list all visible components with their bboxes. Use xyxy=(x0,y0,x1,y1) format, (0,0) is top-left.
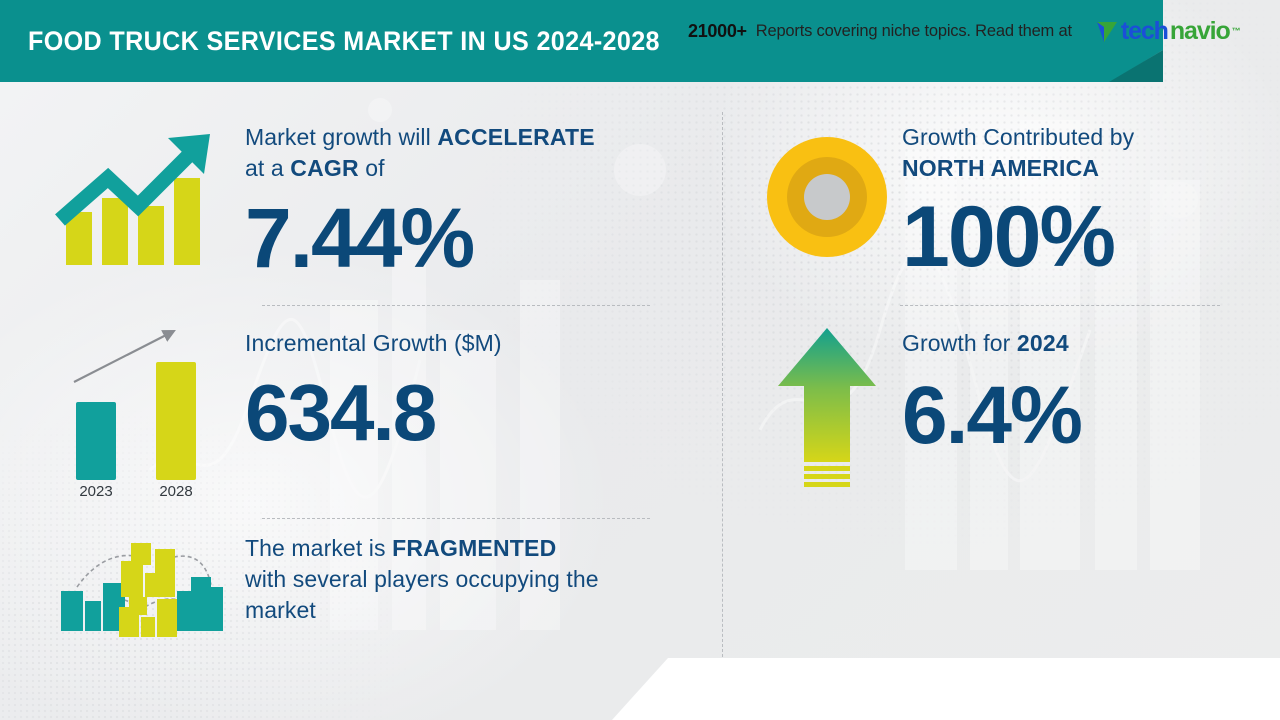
fragmentation-prefix: The market is xyxy=(245,535,392,561)
logo-text-navio: navio xyxy=(1170,17,1230,46)
growth-bar-chart-arrow-icon xyxy=(30,100,245,295)
cagr-lead2-bold: CAGR xyxy=(290,155,359,181)
region-label-line1: Growth Contributed by xyxy=(902,122,1252,153)
footer-content: 21000+ Reports covering niche topics. Re… xyxy=(688,0,1241,62)
cagr-value: 7.44% xyxy=(245,196,690,280)
left-column: Market growth will ACCELERATE at a CAGR … xyxy=(30,100,690,659)
page-title: FOOD TRUCK SERVICES MARKET IN US 2024-20… xyxy=(28,26,660,57)
footer-bar xyxy=(612,658,1280,720)
fragmentation-line3: market xyxy=(245,595,690,626)
cagr-text: Market growth will ACCELERATE at a CAGR … xyxy=(245,100,690,280)
region-contribution-text: Growth Contributed by NORTH AMERICA 100% xyxy=(902,100,1252,280)
fragmentation-line1: The market is FRAGMENTED xyxy=(245,533,690,564)
logo-trademark: ™ xyxy=(1232,26,1241,36)
fragmentation-block: The market is FRAGMENTED with several pl… xyxy=(30,519,690,659)
growth-2024-text: Growth for 2024 6.4% xyxy=(902,306,1252,457)
logo-text-tech: tech xyxy=(1121,17,1168,46)
up-arrow-gradient-icon xyxy=(752,306,902,506)
city-buildings-network-icon xyxy=(30,519,245,649)
fragmentation-text: The market is FRAGMENTED with several pl… xyxy=(245,519,690,626)
region-name: NORTH AMERICA xyxy=(902,155,1099,181)
growth-2024-block: Growth for 2024 6.4% xyxy=(752,306,1252,521)
region-contribution-block: Growth Contributed by NORTH AMERICA 100% xyxy=(752,100,1252,305)
report-count: 21000+ xyxy=(688,21,747,42)
technavio-logo[interactable]: technavio™ xyxy=(1095,17,1241,46)
growth-2024-label: Growth for 2024 xyxy=(902,328,1252,359)
cagr-lead-line1: Market growth will ACCELERATE xyxy=(245,122,690,153)
cagr-lead2-prefix: at a xyxy=(245,155,290,181)
growth-2024-label-prefix: Growth for xyxy=(902,330,1017,356)
fragmentation-bold: FRAGMENTED xyxy=(392,535,556,561)
incremental-growth-value: 634.8 xyxy=(245,373,690,453)
cagr-lead-line2: at a CAGR of xyxy=(245,153,690,184)
cagr-block: Market growth will ACCELERATE at a CAGR … xyxy=(30,100,690,305)
bar-year-2028: 2028 xyxy=(159,483,192,499)
growth-2024-value: 6.4% xyxy=(902,375,1252,457)
triangle-play-mark-icon xyxy=(1095,18,1119,44)
fragmentation-line2: with several players occupying the xyxy=(245,564,690,595)
incremental-growth-block: 2023 2028 Incremental Growth ($M) 634.8 xyxy=(30,306,690,518)
cagr-lead-bold: ACCELERATE xyxy=(437,124,594,150)
concentric-circles-icon xyxy=(752,100,902,295)
two-bar-comparison-icon: 2023 2028 xyxy=(30,306,245,506)
incremental-growth-label: Incremental Growth ($M) xyxy=(245,328,690,359)
growth-2024-year: 2024 xyxy=(1017,330,1069,356)
footer-tagline: Reports covering niche topics. Read them… xyxy=(756,22,1072,41)
right-column: Growth Contributed by NORTH AMERICA 100% xyxy=(752,100,1252,521)
incremental-growth-text: Incremental Growth ($M) 634.8 xyxy=(245,306,690,453)
cagr-lead2-suffix: of xyxy=(359,155,385,181)
bar-year-2023: 2023 xyxy=(79,483,112,499)
cagr-lead-prefix: Market growth will xyxy=(245,124,437,150)
region-value: 100% xyxy=(902,194,1252,280)
column-divider xyxy=(722,112,723,657)
infographic-canvas: FOOD TRUCK SERVICES MARKET IN US 2024-20… xyxy=(0,0,1280,720)
region-label-bold: NORTH AMERICA xyxy=(902,153,1252,184)
